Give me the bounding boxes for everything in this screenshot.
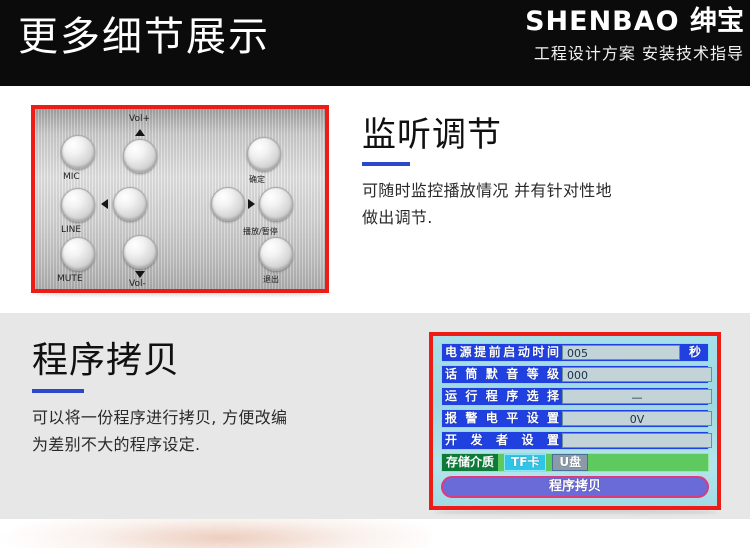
panel-button-left[interactable] — [113, 187, 147, 221]
monitor-heading: 监听调节 — [362, 114, 742, 156]
brand-name-en: SHENBAO — [525, 6, 680, 37]
nav-right-triangle-icon — [248, 199, 255, 209]
mic-label: MIC — [63, 172, 80, 183]
storage-option-usb-drive[interactable]: U盘 — [552, 454, 588, 471]
lcd-value-program-select[interactable]: — — [562, 389, 712, 404]
panel-button-ok[interactable] — [247, 137, 281, 171]
mute-label: MUTE — [57, 274, 83, 285]
monitor-body-line-1: 可随时监控播放情况 并有针对性地 — [362, 177, 742, 204]
program-copy-body-line-1: 可以将一份程序进行拷贝, 方便改编 — [32, 404, 422, 431]
lcd-row-storage-media[interactable]: 存储介质 TF卡 U盘 — [441, 453, 709, 472]
panel-button-mic[interactable] — [61, 135, 95, 169]
panel-button-vol-up[interactable] — [123, 139, 157, 173]
panel-button-exit[interactable] — [259, 237, 293, 271]
lcd-value-developer-settings[interactable] — [562, 433, 712, 448]
lcd-row-mic-mute-level[interactable]: 话筒默音等级 000 — [441, 365, 709, 384]
lcd-unit-power-start-time: 秒 — [682, 344, 708, 361]
section-program-copy: 程序拷贝 可以将一份程序进行拷贝, 方便改编 为差别不大的程序设定. 电源提前启… — [0, 313, 750, 519]
storage-option-tf-card[interactable]: TF卡 — [504, 454, 546, 471]
program-copy-text-block: 程序拷贝 可以将一份程序进行拷贝, 方便改编 为差别不大的程序设定. — [32, 338, 422, 458]
vol-up-label: Vol+ — [129, 114, 150, 125]
panel-button-mute[interactable] — [61, 237, 95, 271]
footer-strip — [0, 519, 750, 548]
panel-button-play-pause[interactable] — [259, 187, 293, 221]
brand-name: SHENBAO 绅宝 — [525, 6, 744, 38]
lcd-row-program-select[interactable]: 运行程序选择 — — [441, 387, 709, 406]
lcd-row-developer-settings[interactable]: 开发者设置 — [441, 431, 709, 450]
promo-page: 更多细节展示 SHENBAO 绅宝 工程设计方案 安装技术指导 Vol+ MIC… — [0, 0, 750, 548]
lcd-label-program-select: 运行程序选择 — [442, 388, 562, 405]
monitor-heading-underline — [362, 162, 410, 166]
vol-down-label: Vol- — [129, 279, 146, 290]
section-monitor-adjust: Vol+ MIC 确定 LINE 播放/暂停 MUTE Vol- — [0, 86, 750, 308]
program-copy-body-line-2: 为差别不大的程序设定. — [32, 431, 422, 458]
page-title: 更多细节展示 — [18, 8, 270, 66]
lcd-screen-photo: 电源提前启动时间 005 秒 话筒默音等级 000 运行程序选择 — 报警电平设… — [429, 332, 721, 510]
page-header: 更多细节展示 SHENBAO 绅宝 工程设计方案 安装技术指导 — [0, 0, 750, 86]
line-label: LINE — [61, 225, 81, 236]
play-pause-label: 播放/暂停 — [243, 226, 278, 237]
lcd-label-mic-mute-level: 话筒默音等级 — [442, 366, 562, 383]
brand-name-cn: 绅宝 — [690, 6, 744, 37]
nav-left-triangle-icon — [101, 199, 108, 209]
lcd-row-power-start-time[interactable]: 电源提前启动时间 005 秒 — [441, 343, 709, 362]
lcd-label-storage-media: 存储介质 — [442, 454, 498, 471]
footer-background-image — [0, 519, 430, 548]
panel-button-right[interactable] — [211, 187, 245, 221]
monitor-text-block: 监听调节 可随时监控播放情况 并有针对性地 做出调节. — [362, 114, 742, 231]
lcd-label-power-start-time: 电源提前启动时间 — [442, 344, 562, 361]
ok-label: 确定 — [249, 174, 265, 185]
lcd-photo-shadow — [434, 509, 718, 516]
monitor-body-line-2: 做出调节. — [362, 204, 742, 231]
lcd-value-mic-mute-level[interactable]: 000 — [562, 367, 712, 382]
panel-button-line[interactable] — [61, 188, 95, 222]
lcd-row-alarm-level[interactable]: 报警电平设置 0V — [441, 409, 709, 428]
panel-button-vol-down[interactable] — [123, 235, 157, 269]
lcd-value-alarm-level[interactable]: 0V — [562, 411, 712, 426]
brand-block: SHENBAO 绅宝 工程设计方案 安装技术指导 — [525, 6, 744, 67]
exit-label: 退出 — [263, 274, 279, 285]
lcd-label-alarm-level: 报警电平设置 — [442, 410, 562, 427]
brand-tagline: 工程设计方案 安装技术指导 — [525, 41, 744, 67]
program-copy-heading-underline — [32, 389, 84, 393]
vol-down-triangle-icon — [135, 271, 145, 278]
lcd-program-copy-button[interactable]: 程序拷贝 — [441, 476, 709, 498]
program-copy-heading: 程序拷贝 — [32, 338, 422, 384]
vol-up-triangle-icon — [135, 129, 145, 136]
control-panel-photo: Vol+ MIC 确定 LINE 播放/暂停 MUTE Vol- — [31, 105, 329, 293]
lcd-value-power-start-time[interactable]: 005 — [562, 345, 680, 360]
lcd-label-developer-settings: 开发者设置 — [442, 432, 562, 449]
